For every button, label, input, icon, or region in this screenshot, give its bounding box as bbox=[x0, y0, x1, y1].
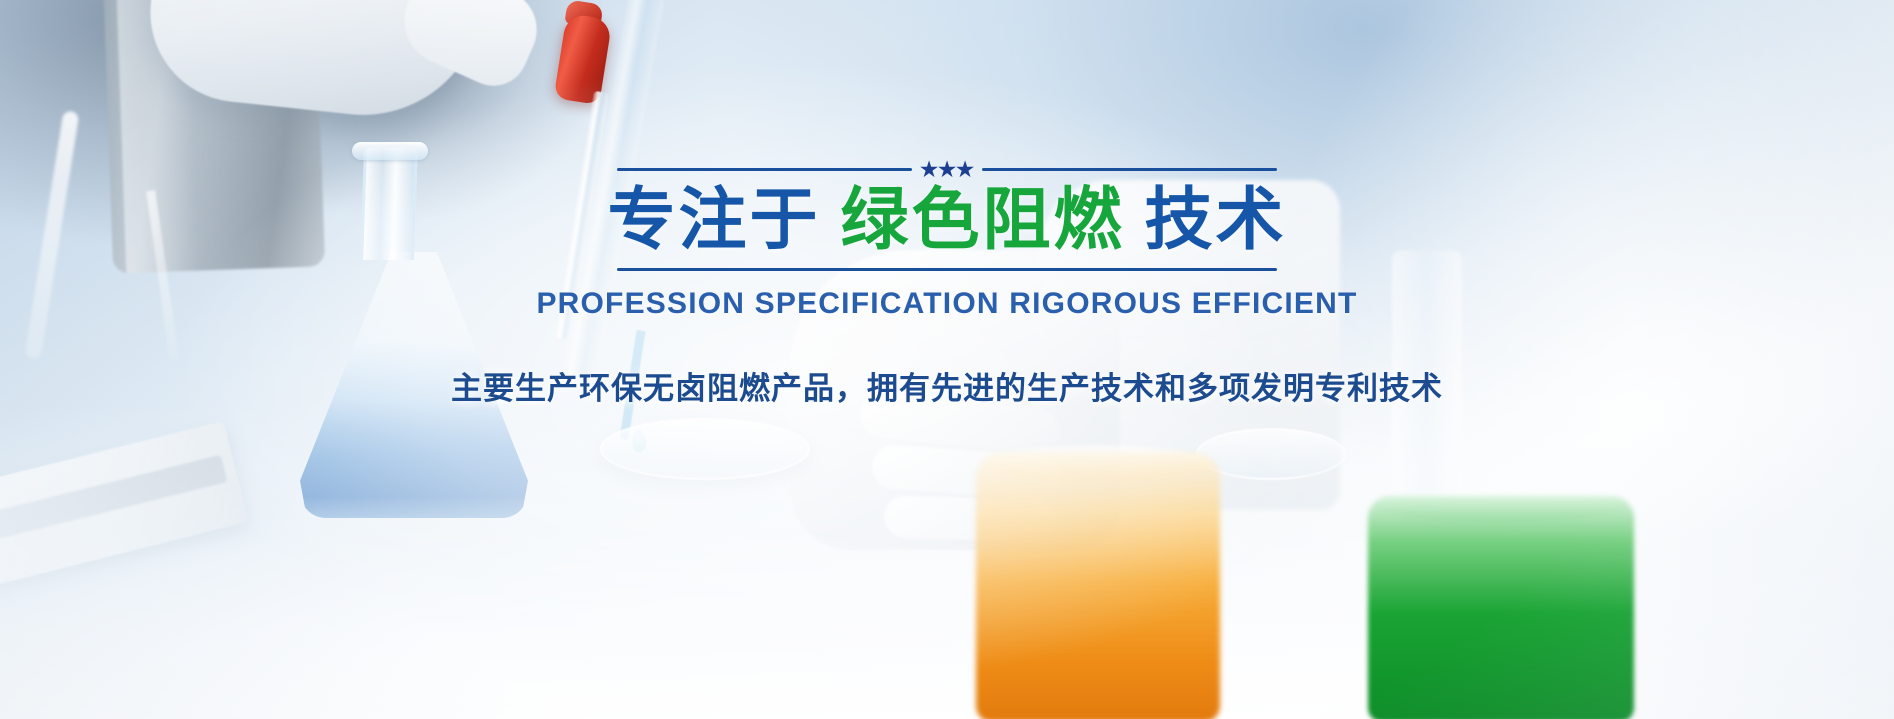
banner-content: ★ ★ ★ 专注于绿色阻燃技术 PROFESSION SPECIFICATION… bbox=[0, 0, 1894, 719]
divider-bottom bbox=[617, 268, 1277, 271]
subtitle-english: PROFESSION SPECIFICATION RIGOROUS EFFICI… bbox=[536, 287, 1357, 321]
page-title: 专注于绿色阻燃技术 bbox=[607, 185, 1286, 256]
divider-top: ★ ★ ★ bbox=[617, 168, 1277, 171]
headline-part-focus: 专注于 bbox=[607, 182, 820, 258]
star-glyph: ★ bbox=[954, 158, 976, 180]
headline-part-green-flame: 绿色阻燃 bbox=[840, 182, 1124, 258]
divider-line-left bbox=[617, 168, 912, 171]
hero-banner: ★ ★ ★ 专注于绿色阻燃技术 PROFESSION SPECIFICATION… bbox=[0, 0, 1894, 719]
divider-line-right bbox=[982, 168, 1277, 171]
subtitle-chinese: 主要生产环保无卤阻燃产品，拥有先进的生产技术和多项发明专利技术 bbox=[451, 363, 1443, 408]
headline-part-technology: 技术 bbox=[1145, 182, 1287, 258]
